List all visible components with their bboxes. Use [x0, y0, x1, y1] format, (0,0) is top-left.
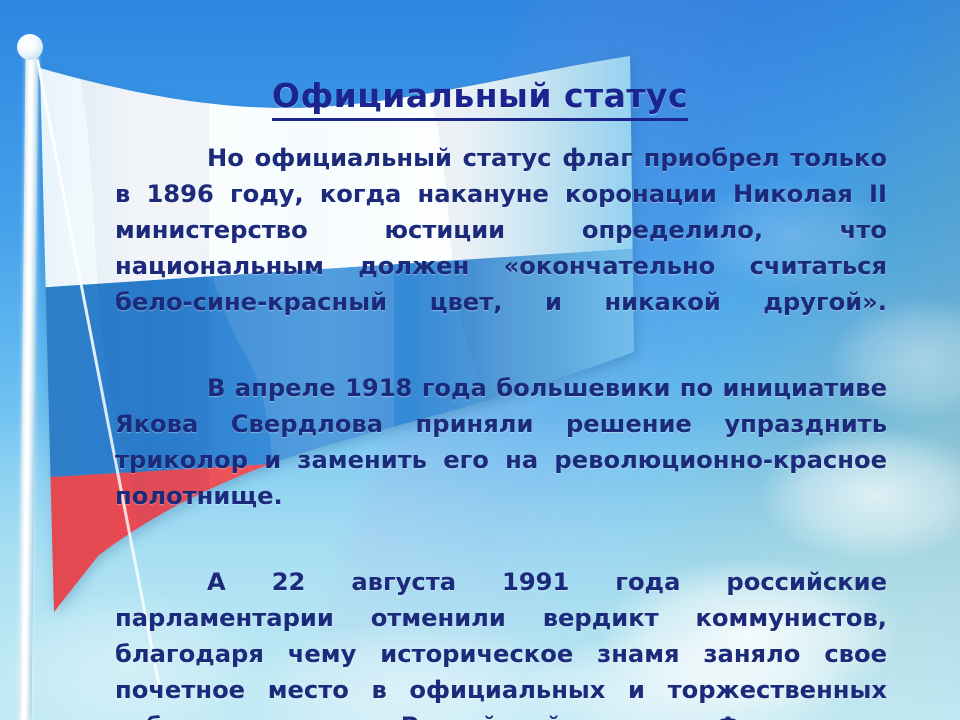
- slide-body: Но официальный статус флаг приобрел толь…: [115, 140, 887, 720]
- body-paragraph: А 22 августа 1991 года российские парлам…: [115, 564, 887, 720]
- body-paragraph: В апреле 1918 года большевики по инициат…: [115, 370, 887, 550]
- slide-title-text: Официальный статус: [272, 76, 688, 121]
- body-paragraph: Но официальный статус флаг приобрел толь…: [115, 140, 887, 356]
- flagpole-finial-icon: [17, 34, 43, 60]
- slide-title: Официальный статус: [0, 76, 960, 115]
- presentation-slide: Официальный статус Но официальный статус…: [0, 0, 960, 720]
